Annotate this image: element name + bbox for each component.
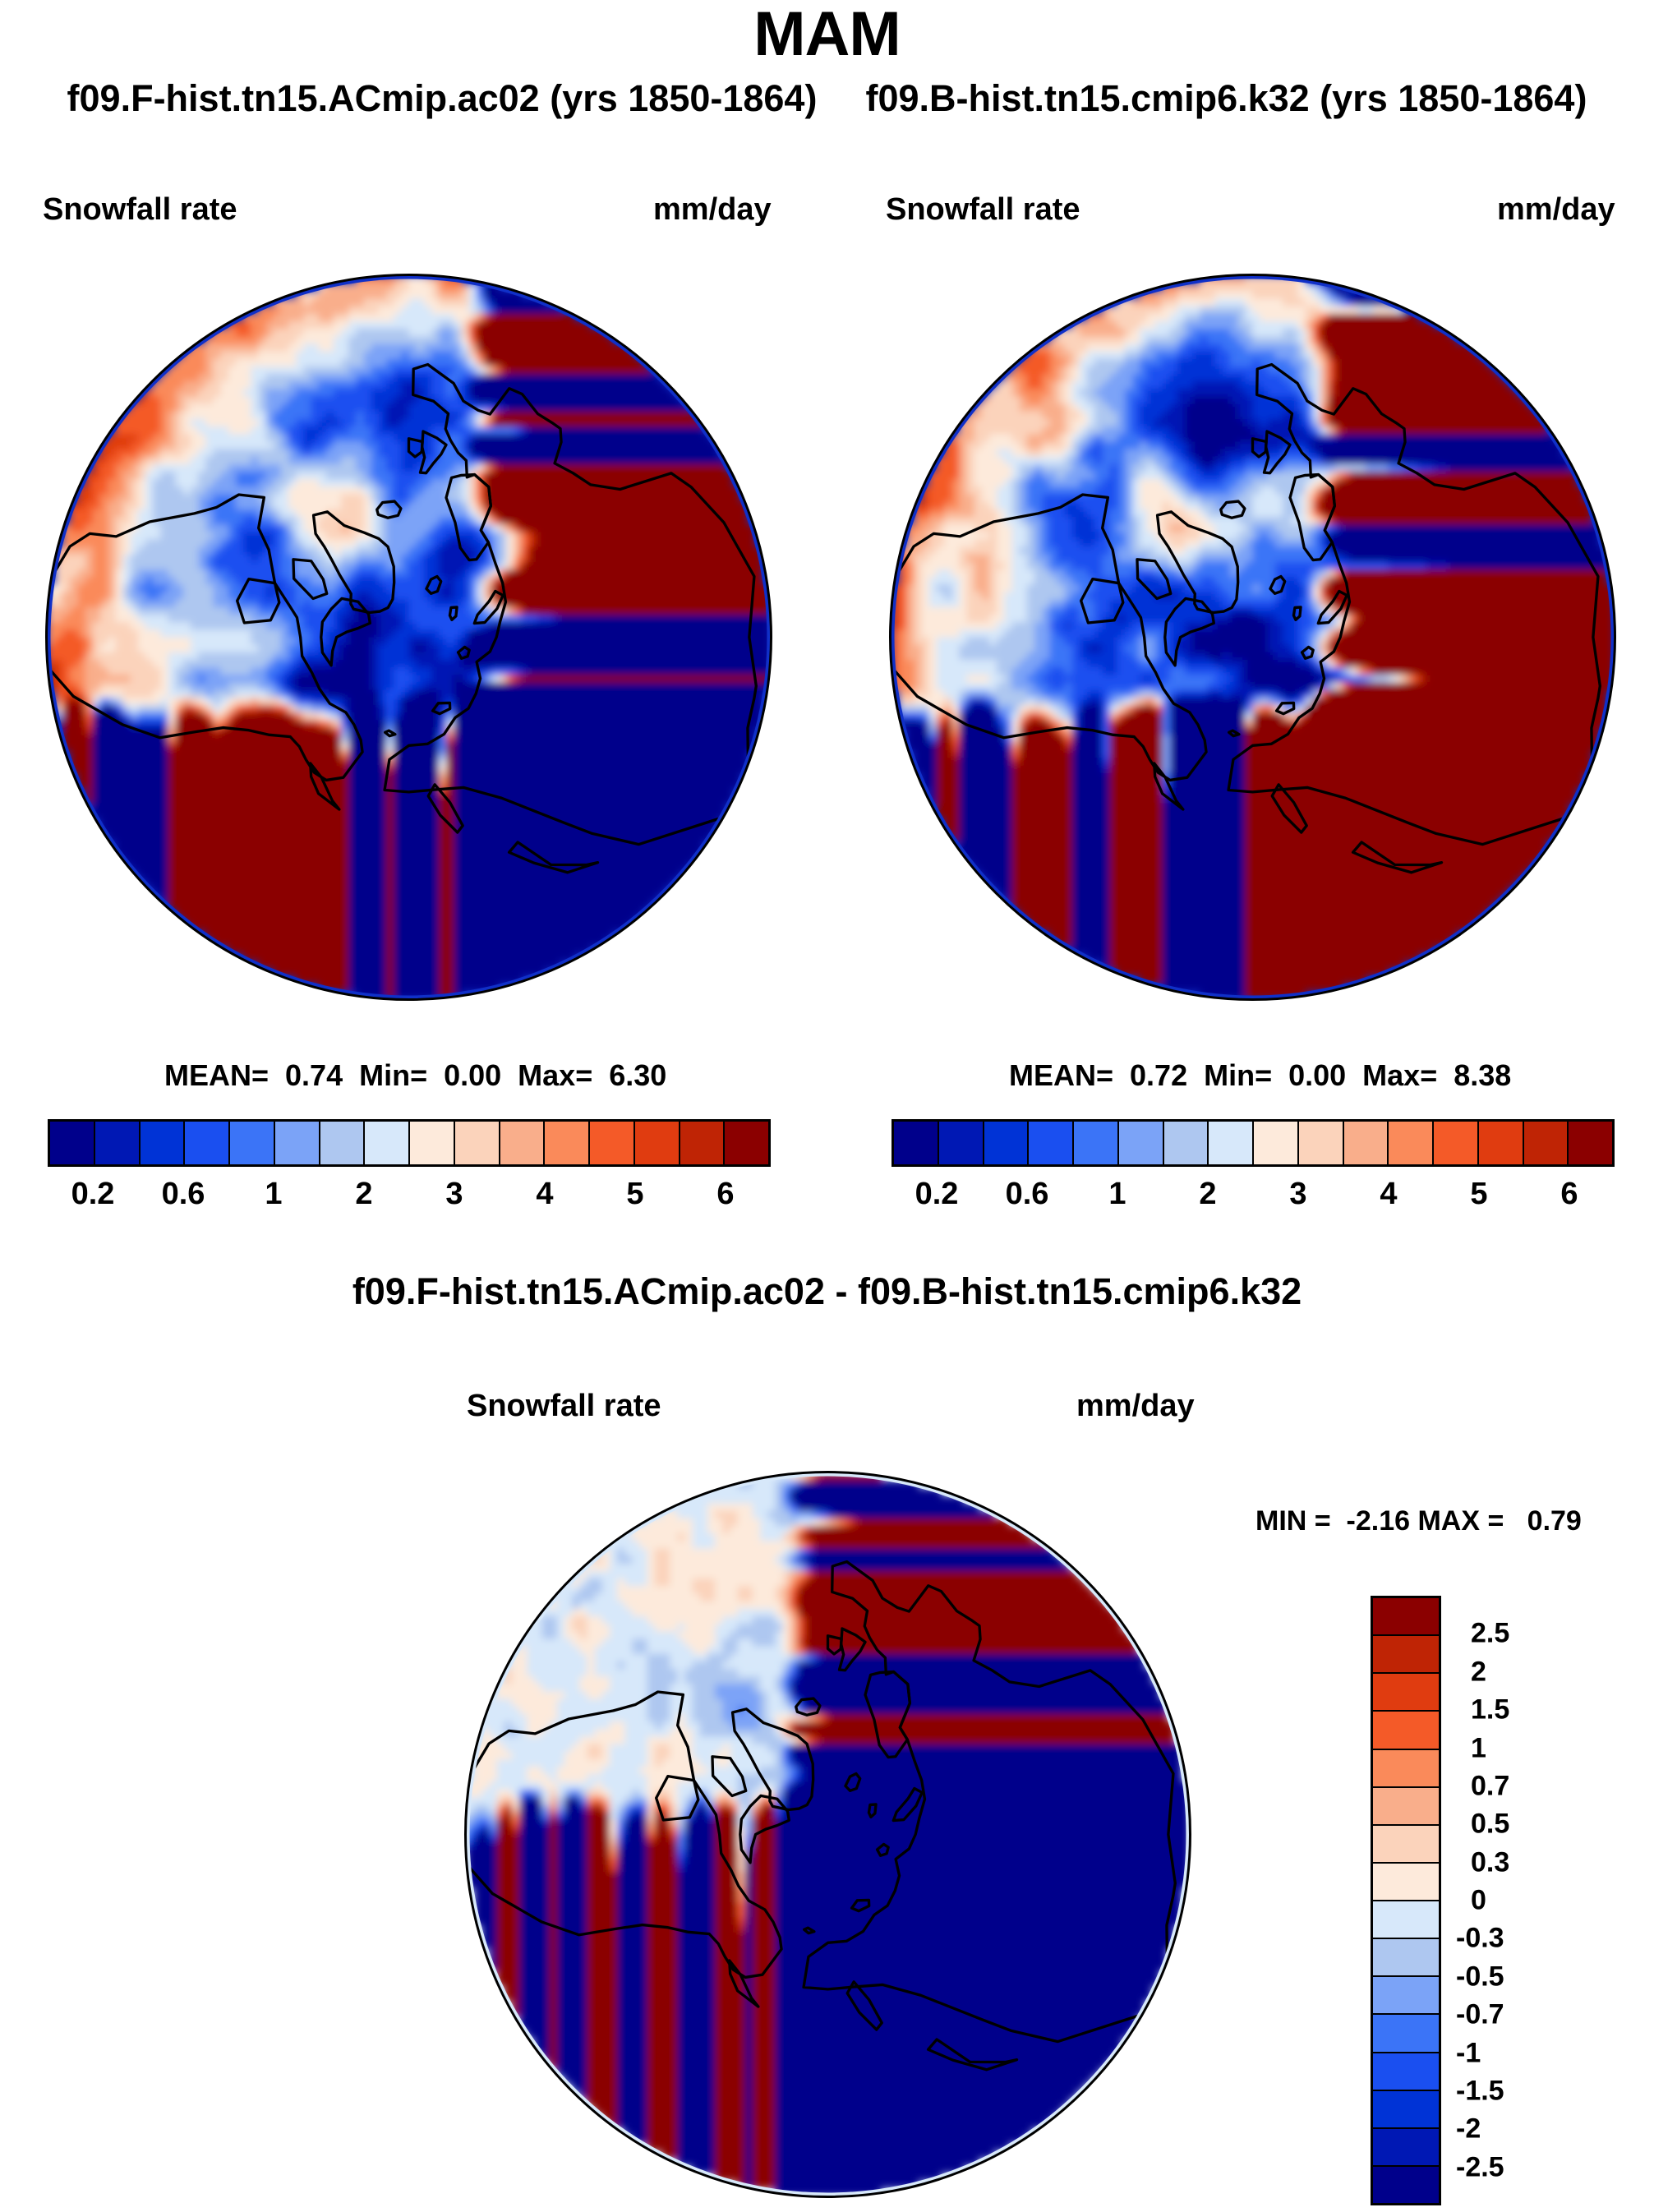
right-variable-label: Snowfall rate (886, 192, 1080, 228)
colorbar-cell (95, 1122, 141, 1164)
colorbar-tick-label: 5 (1470, 1177, 1487, 1212)
polar-map-svg (467, 1473, 1189, 2196)
colorbar-cell (1373, 1674, 1439, 1712)
colorbar-cell (1373, 1598, 1439, 1636)
left-colorbar[interactable] (48, 1119, 771, 1167)
colorbar-tick-label: 0.6 (162, 1177, 205, 1212)
colorbar-cell (1373, 1636, 1439, 1674)
left-units-label: mm/day (653, 192, 772, 228)
colorbar-cell (50, 1122, 95, 1164)
page-title: MAM (0, 0, 1654, 69)
colorbar-tick-label: 0.7 (1471, 1770, 1509, 1802)
colorbar-cell (1373, 1901, 1439, 1939)
right-units-label: mm/day (1497, 192, 1615, 228)
colorbar-cell (725, 1122, 768, 1164)
colorbar-tick-label: 2 (1199, 1177, 1216, 1212)
colorbar-cell (1373, 1826, 1439, 1864)
colorbar-tick-label: -1 (1456, 2037, 1481, 2069)
colorbar-cell (1373, 1939, 1439, 1977)
colorbar-cell (365, 1122, 410, 1164)
right-colorbar-ticks: 0.20.6123456 (892, 1177, 1615, 1218)
colorbar-cell (590, 1122, 635, 1164)
difference-colorbar-ticks: 2.521.510.70.50.30-0.3-0.5-0.7-1-1.5-2-2… (1456, 1596, 1637, 2205)
left-colorbar-ticks: 0.20.6123456 (48, 1177, 771, 1218)
colorbar-cell (1373, 1712, 1439, 1749)
right-colorbar[interactable] (892, 1119, 1615, 1167)
colorbar-tick-label: 1 (265, 1177, 282, 1212)
colorbar-cell (1373, 1750, 1439, 1788)
colorbar-cell (1119, 1122, 1164, 1164)
colorbar-cell (1029, 1122, 1074, 1164)
colorbar-cell (230, 1122, 275, 1164)
colorbar-cell (984, 1122, 1030, 1164)
diff-variable-label: Snowfall rate (467, 1389, 661, 1424)
colorbar-cell (1373, 1864, 1439, 1901)
colorbar-cell (1389, 1122, 1434, 1164)
colorbar-tick-label: 4 (536, 1177, 553, 1212)
colorbar-tick-label: 1.5 (1471, 1694, 1509, 1726)
case-title-left: f09.F-hist.tn15.ACmip.ac02 (yrs 1850-186… (67, 77, 818, 120)
difference-colorbar[interactable] (1371, 1596, 1441, 2205)
diff-units-label: mm/day (1076, 1389, 1195, 1424)
colorbar-tick-label: 0.2 (915, 1177, 959, 1212)
colorbar-cell (894, 1122, 939, 1164)
colorbar-cell (1373, 2167, 1439, 2203)
right-polar-map[interactable] (889, 274, 1616, 1001)
colorbar-cell (635, 1122, 680, 1164)
colorbar-tick-label: 2.5 (1471, 1618, 1509, 1650)
colorbar-cell (410, 1122, 455, 1164)
colorbar-tick-label: -0.3 (1456, 1923, 1504, 1955)
colorbar-cell (1254, 1122, 1299, 1164)
colorbar-tick-label: 0 (1471, 1885, 1486, 1917)
left-stats: MEAN= 0.74 Min= 0.00 Max= 6.30 (164, 1058, 666, 1093)
colorbar-tick-label: 6 (716, 1177, 734, 1212)
title-spacer (827, 77, 855, 120)
colorbar-cell (1373, 2091, 1439, 2129)
colorbar-cell (275, 1122, 320, 1164)
colorbar-tick-label: 2 (355, 1177, 372, 1212)
colorbar-tick-label: -2 (1456, 2113, 1481, 2145)
colorbar-tick-label: 0.5 (1471, 1809, 1509, 1841)
colorbar-tick-label: 0.3 (1471, 1846, 1509, 1878)
colorbar-cell (1373, 2129, 1439, 2167)
colorbar-cell (1434, 1122, 1479, 1164)
colorbar-cell (1479, 1122, 1524, 1164)
colorbar-cell (500, 1122, 546, 1164)
colorbar-cell (1524, 1122, 1569, 1164)
polar-map-svg (892, 276, 1614, 998)
colorbar-cell (1344, 1122, 1389, 1164)
colorbar-tick-label: -0.5 (1456, 1961, 1504, 1993)
right-stats: MEAN= 0.72 Min= 0.00 Max= 8.38 (1009, 1058, 1511, 1093)
colorbar-tick-label: -0.7 (1456, 1999, 1504, 2031)
colorbar-tick-label: 3 (445, 1177, 463, 1212)
colorbar-cell (1373, 1788, 1439, 1826)
colorbar-cell (185, 1122, 230, 1164)
colorbar-tick-label: 4 (1380, 1177, 1397, 1212)
colorbar-cell (320, 1122, 366, 1164)
colorbar-tick-label: 0.6 (1006, 1177, 1049, 1212)
colorbar-cell (680, 1122, 726, 1164)
difference-polar-map[interactable] (464, 1471, 1191, 2198)
difference-title: f09.F-hist.tn15.ACmip.ac02 - f09.B-hist.… (0, 1270, 1654, 1313)
colorbar-tick-label: 2 (1471, 1656, 1486, 1688)
colorbar-cell (141, 1122, 186, 1164)
colorbar-tick-label: 5 (626, 1177, 643, 1212)
polar-map-svg (48, 276, 770, 998)
colorbar-cell (1164, 1122, 1209, 1164)
colorbar-cell (1299, 1122, 1344, 1164)
colorbar-tick-label: 6 (1560, 1177, 1578, 1212)
left-variable-label: Snowfall rate (43, 192, 237, 228)
colorbar-tick-label: 1 (1471, 1732, 1486, 1764)
colorbar-tick-label: 0.2 (71, 1177, 115, 1212)
colorbar-cell (1373, 1977, 1439, 2015)
left-polar-map[interactable] (45, 274, 772, 1001)
colorbar-cell (939, 1122, 984, 1164)
case-titles: f09.F-hist.tn15.ACmip.ac02 (yrs 1850-186… (0, 77, 1654, 120)
colorbar-cell (1569, 1122, 1612, 1164)
colorbar-tick-label: -1.5 (1456, 2075, 1504, 2107)
case-title-right: f09.B-hist.tn15.cmip6.k32 (yrs 1850-1864… (865, 77, 1587, 120)
colorbar-tick-label: -2.5 (1456, 2151, 1504, 2183)
difference-minmax: MIN = -2.16 MAX = 0.79 (1255, 1505, 1582, 1537)
colorbar-tick-label: 3 (1289, 1177, 1306, 1212)
colorbar-cell (1373, 2053, 1439, 2091)
colorbar-cell (1373, 2015, 1439, 2053)
colorbar-cell (455, 1122, 500, 1164)
colorbar-cell (545, 1122, 590, 1164)
colorbar-tick-label: 1 (1108, 1177, 1126, 1212)
colorbar-cell (1209, 1122, 1254, 1164)
colorbar-cell (1074, 1122, 1119, 1164)
